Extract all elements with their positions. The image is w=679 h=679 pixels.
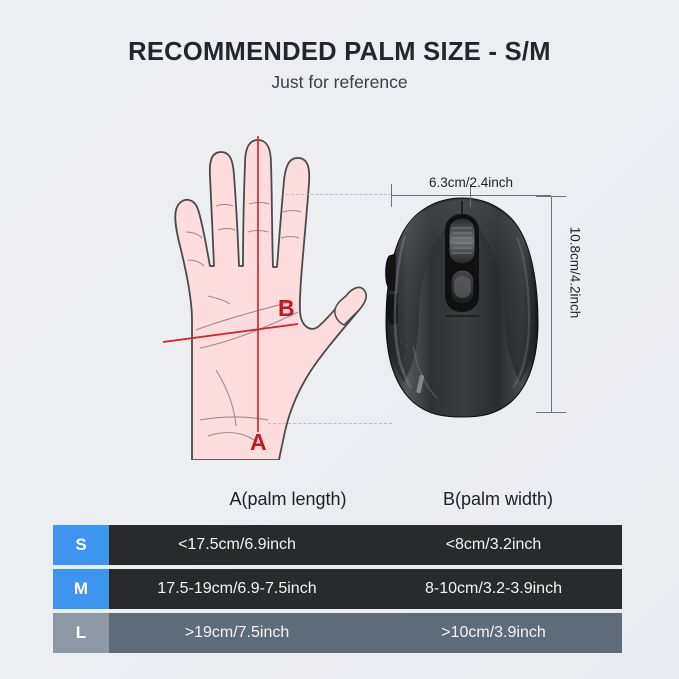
page-subtitle: Just for reference bbox=[0, 72, 679, 93]
guide-line-bottom bbox=[268, 423, 392, 424]
height-cap-top bbox=[536, 196, 566, 197]
label-b: B bbox=[278, 295, 295, 321]
width-dimension-line bbox=[391, 195, 551, 196]
table-row: S <17.5cm/6.9inch <8cm/3.2inch bbox=[53, 525, 622, 565]
palm-width-cell: <8cm/3.2inch bbox=[365, 525, 622, 565]
mouse-illustration bbox=[383, 196, 541, 418]
column-header-b: B(palm width) bbox=[383, 489, 613, 510]
size-label-cell: S bbox=[53, 525, 109, 565]
hand-diagram: B A bbox=[130, 120, 370, 460]
size-label-cell: L bbox=[53, 613, 109, 653]
palm-length-cell: 17.5-19cm/6.9-7.5inch bbox=[109, 569, 365, 609]
palm-length-cell: >19cm/7.5inch bbox=[109, 613, 365, 653]
palm-width-cell: >10cm/3.9inch bbox=[365, 613, 622, 653]
mouse-height-label: 10.8cm/4.2inch bbox=[568, 213, 583, 333]
size-label-cell: M bbox=[53, 569, 109, 609]
palm-width-cell: 8-10cm/3.2-3.9inch bbox=[365, 569, 622, 609]
table-row: L >19cm/7.5inch >10cm/3.9inch bbox=[53, 613, 622, 653]
table-column-headers: A(palm length) B(palm width) bbox=[53, 489, 622, 515]
height-dimension-line bbox=[551, 196, 552, 412]
column-header-a: A(palm length) bbox=[173, 489, 403, 510]
height-cap-bottom bbox=[536, 412, 566, 413]
guide-line-top bbox=[286, 194, 392, 195]
palm-length-cell: <17.5cm/6.9inch bbox=[109, 525, 365, 565]
label-a: A bbox=[250, 429, 267, 455]
palm-size-infographic: RECOMMENDED PALM SIZE - S/M Just for ref… bbox=[0, 0, 679, 679]
dpi-button bbox=[451, 270, 474, 304]
hand-shape bbox=[175, 140, 366, 460]
scroll-wheel bbox=[449, 218, 475, 264]
table-row: M 17.5-19cm/6.9-7.5inch 8-10cm/3.2-3.9in… bbox=[53, 569, 622, 609]
page-title: RECOMMENDED PALM SIZE - S/M bbox=[0, 38, 679, 67]
palm-size-table: S <17.5cm/6.9inch <8cm/3.2inch M 17.5-19… bbox=[53, 525, 622, 653]
mouse-width-label: 6.3cm/2.4inch bbox=[391, 175, 551, 190]
